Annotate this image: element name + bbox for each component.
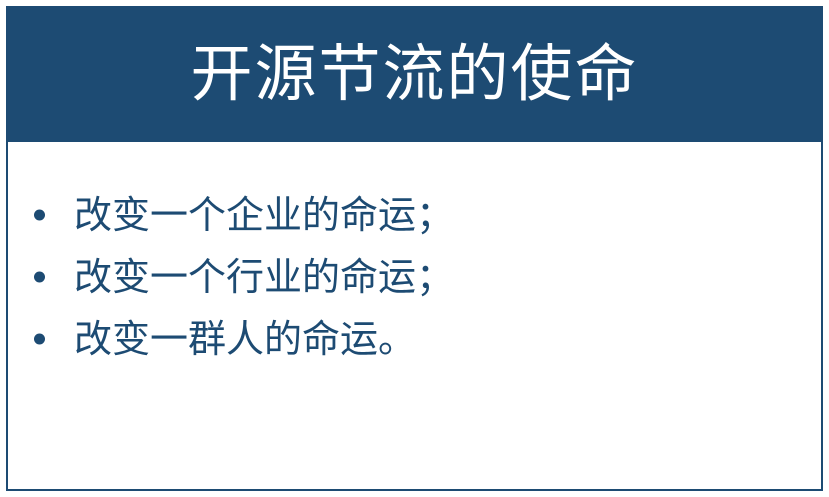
slide-title-bar: 开源节流的使命 (6, 6, 823, 142)
slide-body: 改变一个企业的命运； 改变一个行业的命运； 改变一群人的命运。 (8, 144, 821, 489)
list-item: 改变一群人的命运。 (8, 320, 821, 358)
bullet-text: 改变一个行业的命运； (74, 255, 454, 299)
list-item: 改变一个行业的命运； (8, 258, 821, 296)
bullet-text: 改变一个企业的命运； (74, 193, 454, 237)
bullet-dot-icon (34, 334, 45, 345)
bullet-dot-icon (34, 272, 45, 283)
bullet-text: 改变一群人的命运。 (74, 317, 416, 361)
slide: 开源节流的使命 改变一个企业的命运； 改变一个行业的命运； 改变一群人的命运。 (0, 0, 829, 497)
bullet-dot-icon (34, 210, 45, 221)
list-item: 改变一个企业的命运； (8, 196, 821, 234)
slide-title: 开源节流的使命 (190, 43, 638, 105)
bullet-list: 改变一个企业的命运； 改变一个行业的命运； 改变一群人的命运。 (8, 196, 821, 358)
